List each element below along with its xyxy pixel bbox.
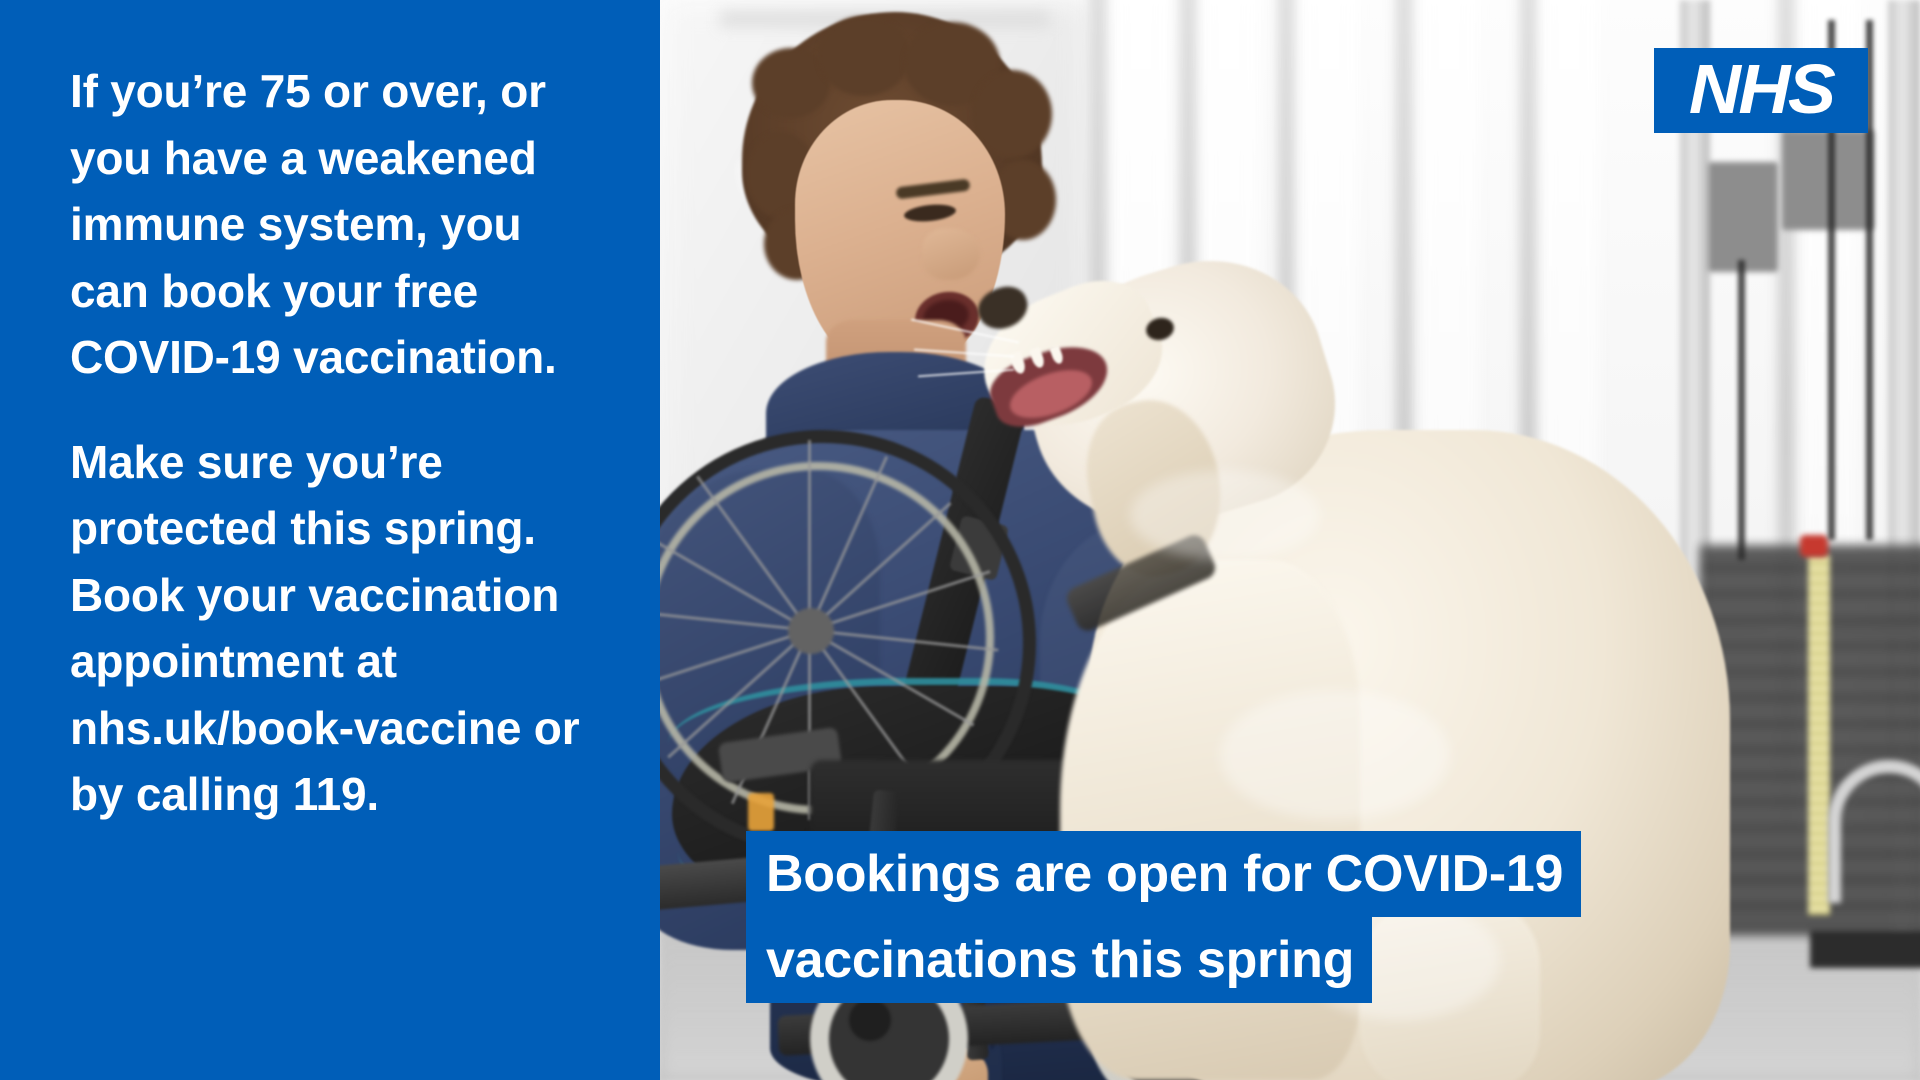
wheelchair-caster-hub-left (849, 999, 891, 1041)
message-panel: If you’re 75 or over, or you have a weak… (0, 0, 660, 1080)
hair-curl-2 (818, 16, 910, 96)
dog-fur-highlight (1130, 470, 1320, 560)
nhs-campaign-poster: If you’re 75 or over, or you have a weak… (0, 0, 1920, 1080)
dog-fur-highlight (1220, 690, 1450, 820)
nhs-logo: NHS (1654, 48, 1868, 133)
wheelchair-reflector (748, 793, 774, 831)
nhs-logo-text: NHS (1689, 54, 1834, 124)
eligibility-message: If you’re 75 or over, or you have a weak… (70, 58, 608, 391)
booking-message: Make sure you’re protected this spring. … (70, 429, 608, 828)
caption-line-2: vaccinations this spring (746, 917, 1372, 1003)
man-nose (922, 228, 980, 280)
wheelchair-wheel-hub (788, 608, 834, 654)
caption-banner: Bookings are open for COVID-19 vaccinati… (746, 831, 1581, 1003)
caption-line-1: Bookings are open for COVID-19 (746, 831, 1581, 917)
